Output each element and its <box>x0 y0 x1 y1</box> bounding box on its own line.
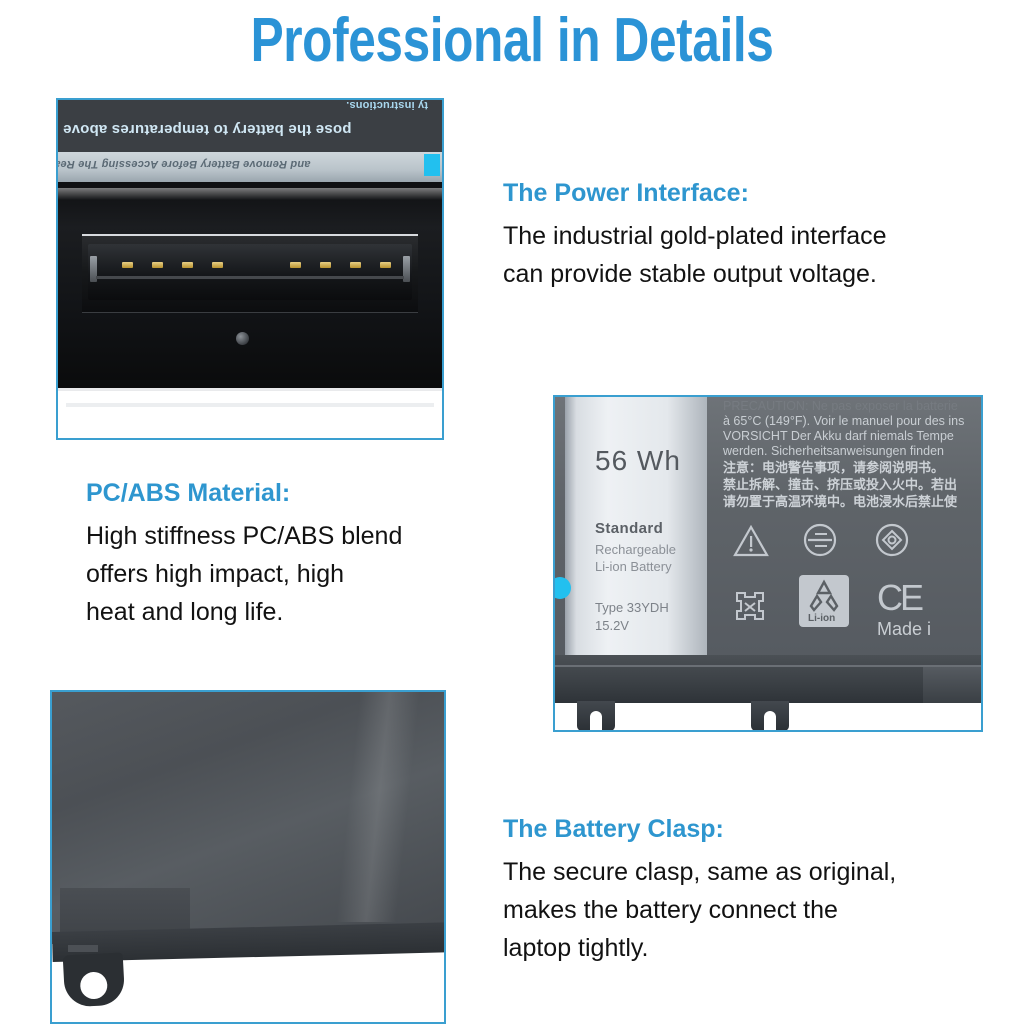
callout-heading: The Battery Clasp: <box>503 812 896 846</box>
gold-pin <box>122 262 133 268</box>
warning-line-cn: 禁止拆解、撞击、挤压或投入火中。若出 <box>723 476 983 493</box>
page-title: Professional in Details <box>102 4 921 78</box>
interface-warning-text-2: pose the battery to temperatures above 6 <box>58 121 351 138</box>
battery-case-photo <box>50 690 446 1024</box>
callout-power-interface: The Power Interface: The industrial gold… <box>503 176 887 293</box>
callout-pcabs-material: PC/ABS Material: High stiffness PC/ABS b… <box>86 476 402 631</box>
battery-clasp <box>751 701 789 731</box>
gold-pin <box>152 262 163 268</box>
connector-rail <box>96 276 404 279</box>
callout-body-line: laptop tightly. <box>503 929 896 967</box>
warning-triangle-icon <box>733 525 769 562</box>
interface-warning-text-3: and Remove Battery Before Accessing The … <box>58 158 310 170</box>
callout-battery-clasp: The Battery Clasp: The secure clasp, sam… <box>503 812 896 967</box>
surface-shadow <box>66 403 434 407</box>
case-highlight <box>58 188 442 200</box>
tab-notch <box>68 945 98 952</box>
screw-head <box>236 332 249 345</box>
callout-body-line: High stiffness PC/ABS blend <box>86 517 402 555</box>
made-in-text: Made i <box>877 619 931 640</box>
battery-voltage-text: 15.2V <box>595 618 629 633</box>
ce-mark-icon: CE <box>877 577 921 619</box>
callout-body-line: makes the battery connect the <box>503 891 896 929</box>
callout-body-line: offers high impact, high <box>86 555 402 593</box>
callout-body-line: can provide stable output voltage. <box>503 255 887 293</box>
gold-pin <box>182 262 193 268</box>
connector-cavity <box>88 244 412 300</box>
liion-text: Li-ion <box>808 613 835 624</box>
battery-label-panel: 56 Wh Standard Rechargeable Li-ion Batte… <box>565 397 707 655</box>
power-interface-photo: ty instructions. pose the battery to tem… <box>56 98 444 440</box>
rechargeable-text: Rechargeable <box>595 542 676 557</box>
gold-pin <box>380 262 391 268</box>
no-disassemble-icon <box>803 523 837 562</box>
warning-text-block: PRECAUTION: Ne pas exposer la batterie à… <box>723 399 983 459</box>
capacity-text: 56 Wh <box>595 445 681 477</box>
weee-recycle-icon <box>733 589 767 628</box>
warning-line-cn: 请勿置于高温环境中。电池浸水后禁止使 <box>723 493 983 510</box>
battery-case-surface: 56 Wh Standard Rechargeable Li-ion Batte… <box>555 397 981 655</box>
standard-text: Standard <box>595 520 663 537</box>
gold-pin <box>212 262 223 268</box>
ccc-mark-icon <box>875 523 909 562</box>
gold-pin <box>350 262 361 268</box>
gold-pin <box>320 262 331 268</box>
warning-line: à 65°C (149°F). Voir le manuel pour des … <box>723 414 983 429</box>
case-seam <box>555 665 981 667</box>
callout-body-line: The secure clasp, same as original, <box>503 853 896 891</box>
callout-heading: PC/ABS Material: <box>86 476 402 510</box>
callout-body-line: heat and long life. <box>86 593 402 631</box>
battery-type-text: Type 33YDH <box>595 600 669 615</box>
gold-pin <box>290 262 301 268</box>
connector-clip-right <box>403 256 410 282</box>
connector-housing <box>82 234 418 313</box>
callout-body-line: The industrial gold-plated interface <box>503 217 887 255</box>
liion-battery-text: Li-ion Battery <box>595 559 672 574</box>
case-surface <box>52 692 444 944</box>
warning-line: VORSICHT Der Akku darf niemals Tempe <box>723 429 983 444</box>
li-ion-recycle-icon: Li-ion <box>799 575 849 627</box>
battery-bottom-edge <box>555 655 981 703</box>
screw-mount-tab <box>63 952 126 1007</box>
accent-dot <box>424 154 440 176</box>
warning-line-cn: 注意：电池警告事项，请参阅说明书。 <box>723 459 983 476</box>
warning-line: werden. Sicherheitsanweisungen finden <box>723 444 983 459</box>
battery-label-photo: 56 Wh Standard Rechargeable Li-ion Batte… <box>553 395 983 732</box>
callout-heading: The Power Interface: <box>503 176 887 210</box>
interface-warning-text-1: ty instructions. <box>346 100 428 111</box>
photo-white-space <box>58 391 442 438</box>
case-highlight <box>336 692 420 922</box>
case-panel <box>923 667 981 703</box>
warning-text-chinese: 注意：电池警告事项，请参阅说明书。 禁止拆解、撞击、挤压或投入火中。若出 请勿置… <box>723 459 983 510</box>
battery-clasp <box>577 701 615 731</box>
warning-line: PRECAUTION: Ne pas exposer la batterie <box>723 399 983 414</box>
